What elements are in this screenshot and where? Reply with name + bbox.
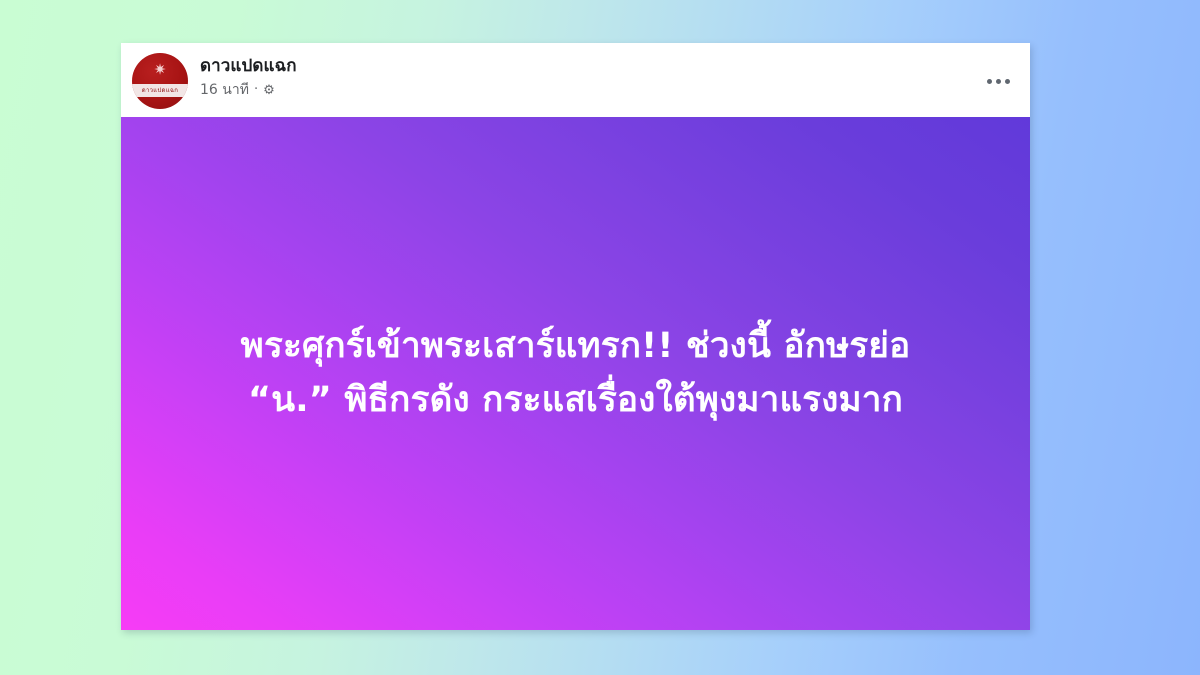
post-image-gradient[interactable]: พระศุกร์เข้าพระเสาร์แทรก!! ช่วงนี้ อักษร… (121, 117, 1030, 630)
post-text-block: พระศุกร์เข้าพระเสาร์แทรก!! ช่วงนี้ อักษร… (185, 320, 967, 426)
facebook-post-card: ✷ ดาวแปดแฉก ดาวแปดแฉก 16 นาที · ⚙ พร (121, 43, 1030, 630)
post-meta: 16 นาที · ⚙ (200, 81, 297, 99)
avatar-band-text: ดาวแปดแฉก (132, 84, 188, 97)
post-text-line-1: พระศุกร์เข้าพระเสาร์แทรก!! ช่วงนี้ อักษร… (185, 320, 967, 373)
post-text-line-2: “น.” พิธีกรดัง กระแสเรื่องใต้พุงมาแรงมาก (185, 374, 967, 427)
eight-pointed-star-icon: ✷ (153, 62, 168, 77)
avatar[interactable]: ✷ ดาวแปดแฉก (132, 53, 188, 109)
page-background: ✷ ดาวแปดแฉก ดาวแปดแฉก 16 นาที · ⚙ พร (0, 0, 1200, 675)
post-header: ✷ ดาวแปดแฉก ดาวแปดแฉก 16 นาที · ⚙ (121, 43, 1030, 117)
page-name[interactable]: ดาวแปดแฉก (200, 56, 297, 76)
ellipsis-horizontal-icon[interactable] (980, 67, 1016, 95)
post-header-text: ดาวแปดแฉก 16 นาที · ⚙ (200, 56, 297, 99)
post-timestamp[interactable]: 16 นาที (200, 81, 249, 99)
ellipsis-dot (996, 79, 1001, 84)
ellipsis-dot (1005, 79, 1010, 84)
ellipsis-dot (987, 79, 992, 84)
gear-icon[interactable]: ⚙ (263, 84, 276, 97)
meta-separator: · (254, 81, 258, 99)
